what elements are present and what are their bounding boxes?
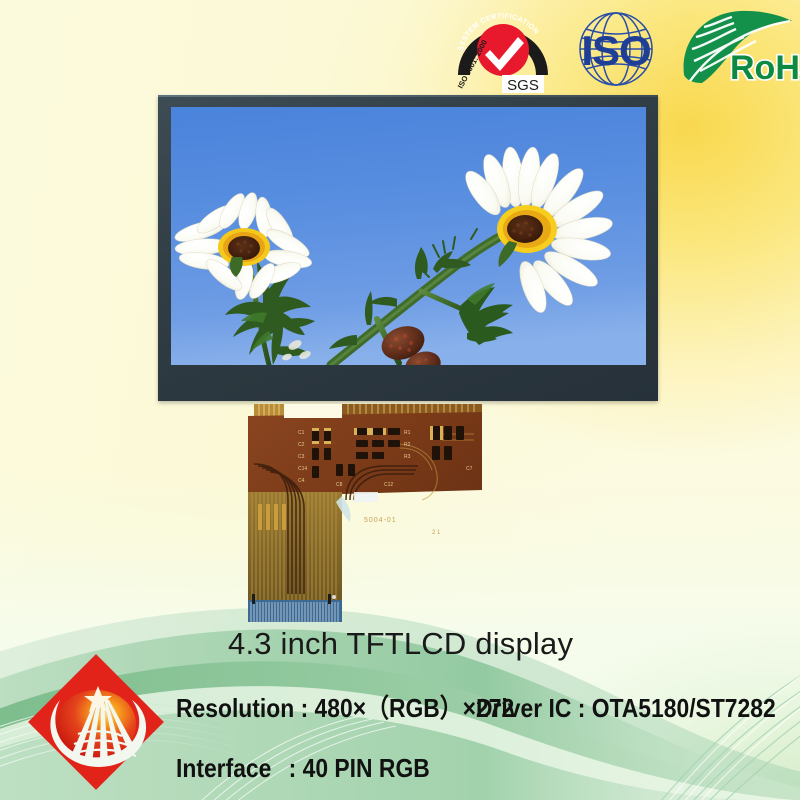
certification-logos: SYSTEM CERTIFICATION ISO 9001: 2000 SGS [448,2,796,96]
spec-resolution: Resolution : 480×（RGB）×272 [176,688,514,728]
company-diamond-logo [22,648,170,796]
svg-text:2 1: 2 1 [432,530,441,536]
svg-text:C7: C7 [466,466,473,472]
svg-text:C4: C4 [298,478,305,484]
iso-logo: ISO [564,5,668,93]
tft-lcd-panel [158,95,658,401]
svg-text:SGS: SGS [507,77,539,94]
spec-interface-label: Interface [176,748,289,788]
svg-text:C8: C8 [336,482,343,488]
svg-text:R3: R3 [404,454,411,460]
svg-text:C2: C2 [298,442,305,448]
flexible-printed-circuit: C1 C2 C3 C14 C4 C8 R1 R2 R3 C7 C12 5004-… [236,404,482,626]
svg-text:ISO: ISO [581,27,650,74]
spec-interface: Interface: 40 PIN RGB [176,748,430,788]
svg-text:C14: C14 [298,466,307,472]
svg-text:R1: R1 [404,430,411,436]
svg-text:5004-01: 5004-01 [364,517,397,524]
svg-text:C3: C3 [298,454,305,460]
product-marketing-image: SYSTEM CERTIFICATION ISO 9001: 2000 SGS [0,0,800,800]
spec-interface-value: : 40 PIN RGB [289,753,430,783]
page-title: 4.3 inch TFTLCD display [228,623,648,665]
lcd-screen-image [171,107,646,365]
spec-driver-ic: Driver IC : OTA5180/ST7282 [476,688,776,728]
svg-text:RoHS: RoHS [730,49,800,87]
rohs-logo: RoHS [674,5,800,93]
sgs-iso9001-certification-logo: SYSTEM CERTIFICATION ISO 9001: 2000 SGS [448,3,558,95]
svg-text:C1: C1 [298,430,305,436]
svg-text:R2: R2 [404,442,411,448]
svg-text:C12: C12 [384,482,393,488]
